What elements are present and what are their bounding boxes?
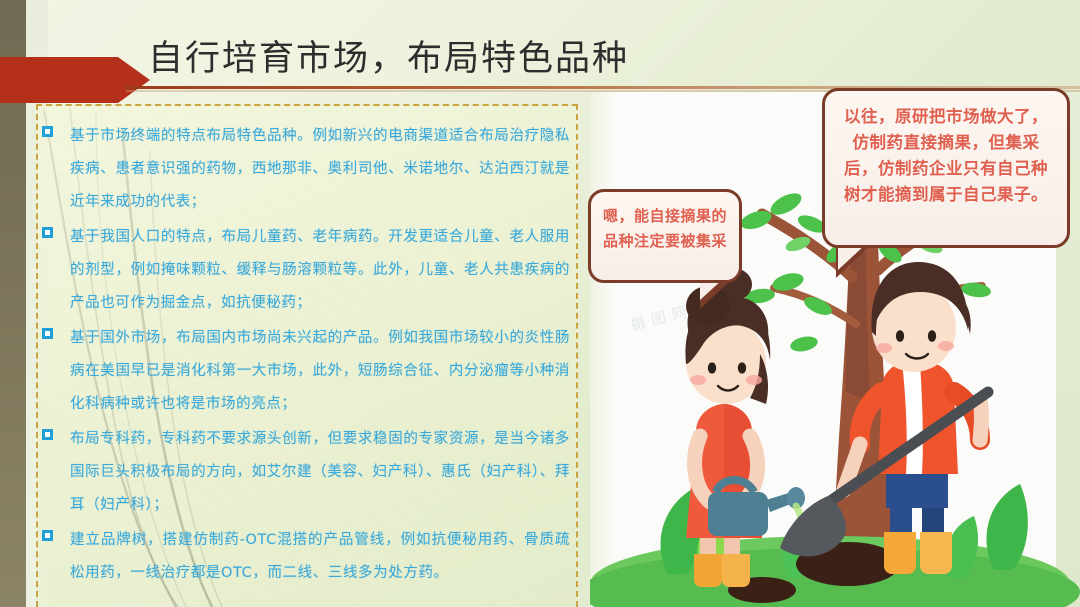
red-arrow-banner: [0, 57, 150, 103]
slide-canvas: 自行培育市场，布局特色品种 基于市场终端的特点布局特色品种。例如新兴的电商渠道适…: [0, 0, 1080, 607]
list-item-text: 建立品牌树，搭建仿制药-OTC混搭的产品管线，例如抗便秘用药、骨质疏松用药，一线…: [70, 524, 570, 590]
list-item-text: 基于国外市场，布局国内市场尚未兴起的产品。例如我国市场较小的炎性肠病在美国早已是…: [70, 322, 570, 421]
list-item: 布局专科药，专科药不要求源头创新，但要求稳固的专家资源，是当今诸多国际巨头积极布…: [38, 423, 570, 522]
speech-bubble-small-text: 嗯，能自接摘果的品种注定要被集采: [601, 204, 729, 254]
square-outline-icon: [42, 126, 53, 137]
list-item: 基于我国人口的特点，布局儿童药、老年病药。开发更适合儿童、老人服用的剂型，例如掩…: [38, 221, 570, 320]
list-item-text: 基于市场终端的特点布局特色品种。例如新兴的电商渠道适合布局治疗隐私疾病、患者意识…: [70, 120, 570, 219]
list-item: 基于市场终端的特点布局特色品种。例如新兴的电商渠道适合布局治疗隐私疾病、患者意识…: [38, 120, 570, 219]
bubble-tail-fill: [838, 245, 865, 270]
bullet-list: 基于市场终端的特点布局特色品种。例如新兴的电商渠道适合布局治疗隐私疾病、患者意识…: [38, 106, 578, 606]
list-item-text: 布局专科药，专科药不要求源头创新，但要求稳固的专家资源，是当今诸多国际巨头积极布…: [70, 423, 570, 522]
square-outline-icon: [42, 530, 53, 541]
square-outline-icon: [42, 328, 53, 339]
speech-bubble-small: 嗯，能自接摘果的品种注定要被集采: [588, 189, 742, 283]
square-outline-icon: [42, 227, 53, 238]
list-item: 基于国外市场，布局国内市场尚未兴起的产品。例如我国市场较小的炎性肠病在美国早已是…: [38, 322, 570, 421]
speech-bubble-large-text: 以往，原研把市场做大了，仿制药直接摘果，但集采后，仿制药企业只有自己种树才能摘到…: [837, 104, 1055, 208]
list-item: 建立品牌树，搭建仿制药-OTC混搭的产品管线，例如抗便秘用药、骨质疏松用药，一线…: [38, 524, 570, 590]
page-title: 自行培育市场，布局特色品种: [148, 36, 629, 82]
list-item-text: 基于我国人口的特点，布局儿童药、老年病药。开发更适合儿童、老人服用的剂型，例如掩…: [70, 221, 570, 320]
speech-bubble-large: 以往，原研把市场做大了，仿制药直接摘果，但集采后，仿制药企业只有自己种树才能摘到…: [822, 88, 1070, 248]
square-outline-icon: [42, 429, 53, 440]
